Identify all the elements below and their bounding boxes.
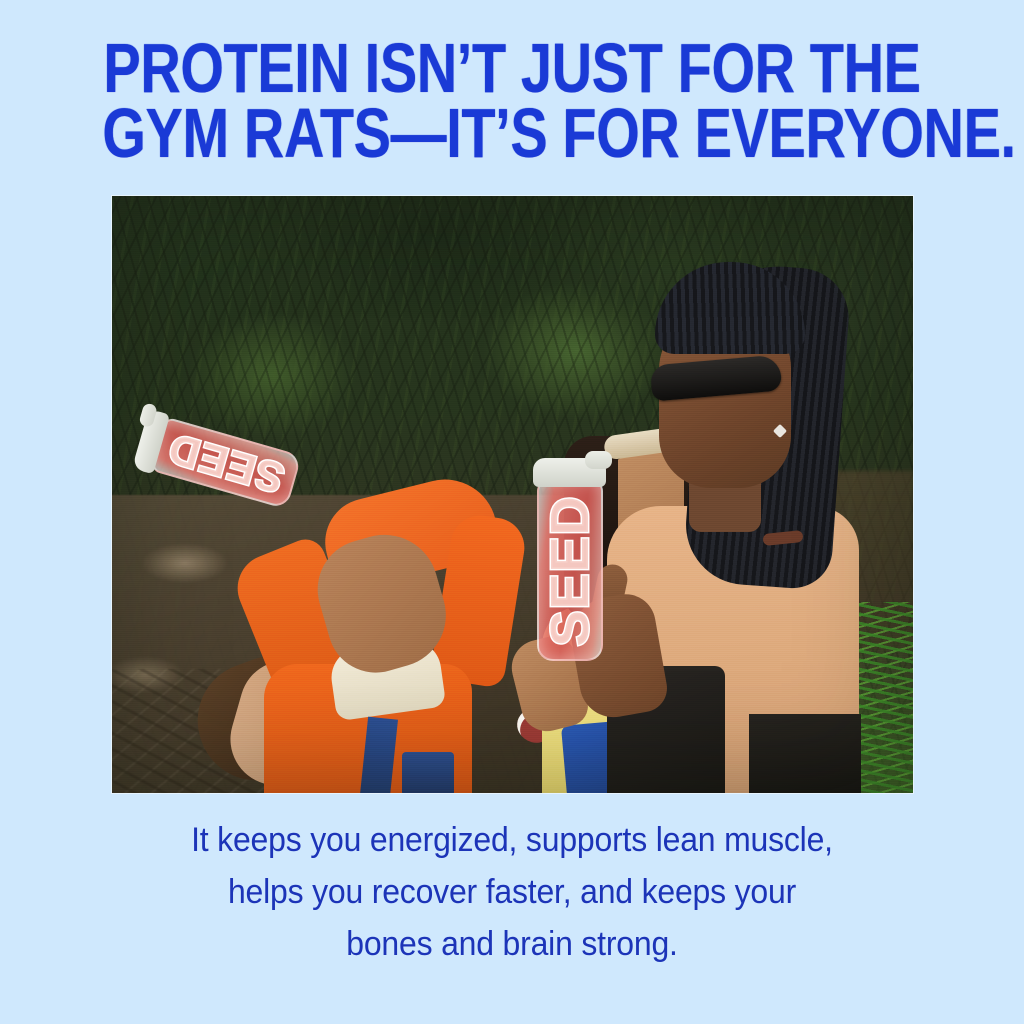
woman-left-overall-pocket (402, 752, 454, 793)
ad-card: PROTEIN ISN’T JUST FOR THE GYM RATS—IT’S… (0, 0, 1024, 1024)
seed-bottle-center-spout (585, 451, 611, 469)
lifestyle-photo: SEED (112, 196, 913, 793)
man-right (581, 214, 911, 793)
photo-scene: SEED (112, 196, 913, 793)
body-copy-line-1: It keeps you energized, supports lean mu… (31, 815, 994, 867)
body-copy-line-3: bones and brain strong. (31, 919, 994, 971)
man-right-jacket-black-hem (749, 714, 861, 793)
headline-line-2: GYM RATS—IT’S FOR EVERYONE. (102, 101, 921, 166)
seed-bottle-center: SEED (537, 481, 603, 661)
headline-line-1: PROTEIN ISN’T JUST FOR THE (102, 36, 921, 101)
seed-bottle-center-label: SEED (539, 496, 601, 647)
body-copy-line-2: helps you recover faster, and keeps your (31, 867, 994, 919)
headline: PROTEIN ISN’T JUST FOR THE GYM RATS—IT’S… (0, 0, 1024, 166)
body-copy: It keeps you energized, supports lean mu… (0, 815, 1024, 970)
